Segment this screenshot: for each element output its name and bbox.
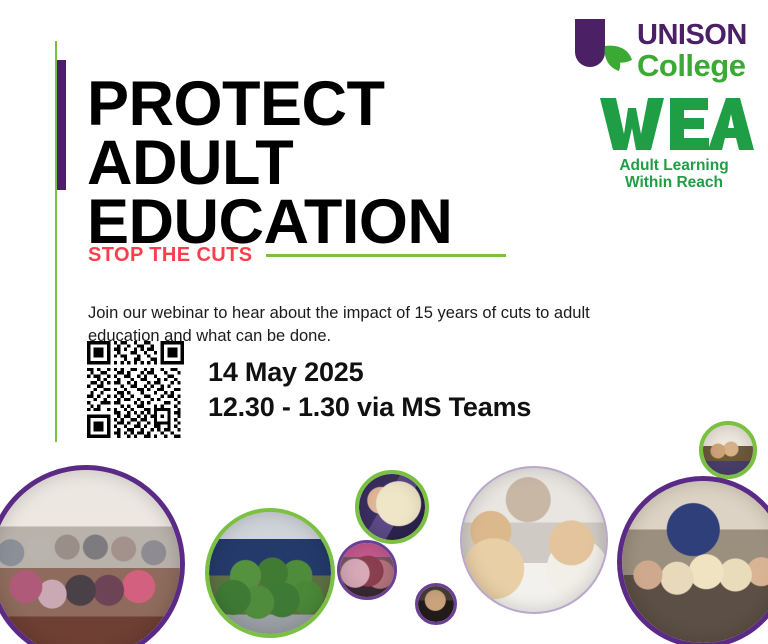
unison-wordmark-bottom: College [637,48,746,83]
purple-accent-bar [57,60,66,190]
photo-unison-certificates [617,476,768,644]
photo-image [209,512,331,634]
photo-meeting-room [699,421,757,479]
headline-line-1: PROTECT [87,75,557,134]
wea-logo-svg: Adult Learning Within Reach [594,92,754,192]
headline-line-2: ADULT [87,134,557,193]
wea-tagline-line1: Adult Learning [619,157,728,174]
photo-image [0,470,180,644]
wea-logo: Adult Learning Within Reach [594,92,754,192]
photo-learners-laughing [460,466,608,614]
photo-certificate-group [0,465,185,644]
photo-award-winner [355,470,429,544]
photo-presentation-group [337,540,397,600]
unison-wordmark-top: UNISON [637,19,747,51]
photo-image [622,481,768,643]
page-title: PROTECT ADULT EDUCATION [87,75,557,252]
photo-image [418,586,454,622]
unison-college-logo: UNISON College [571,16,757,84]
unison-shield-leaf-icon [575,19,632,71]
photo-collage [0,412,768,644]
unison-logo-svg: UNISON College [571,16,757,84]
subhead-green-rule [266,254,506,257]
subhead-text: STOP THE CUTS [88,244,253,267]
wea-wordmark-icon [600,98,754,150]
photo-image [359,474,425,540]
event-date: 14 May 2025 [208,355,628,390]
photo-image [462,468,606,612]
photo-image [703,425,753,475]
subhead-row: STOP THE CUTS [88,243,528,267]
photo-wreath-workshop [205,508,335,638]
poster-canvas: PROTECT ADULT EDUCATION STOP THE CUTS Jo… [0,0,768,644]
photo-image [340,543,394,597]
wea-tagline-line2: Within Reach [625,174,723,191]
photo-small-dark [415,583,457,625]
